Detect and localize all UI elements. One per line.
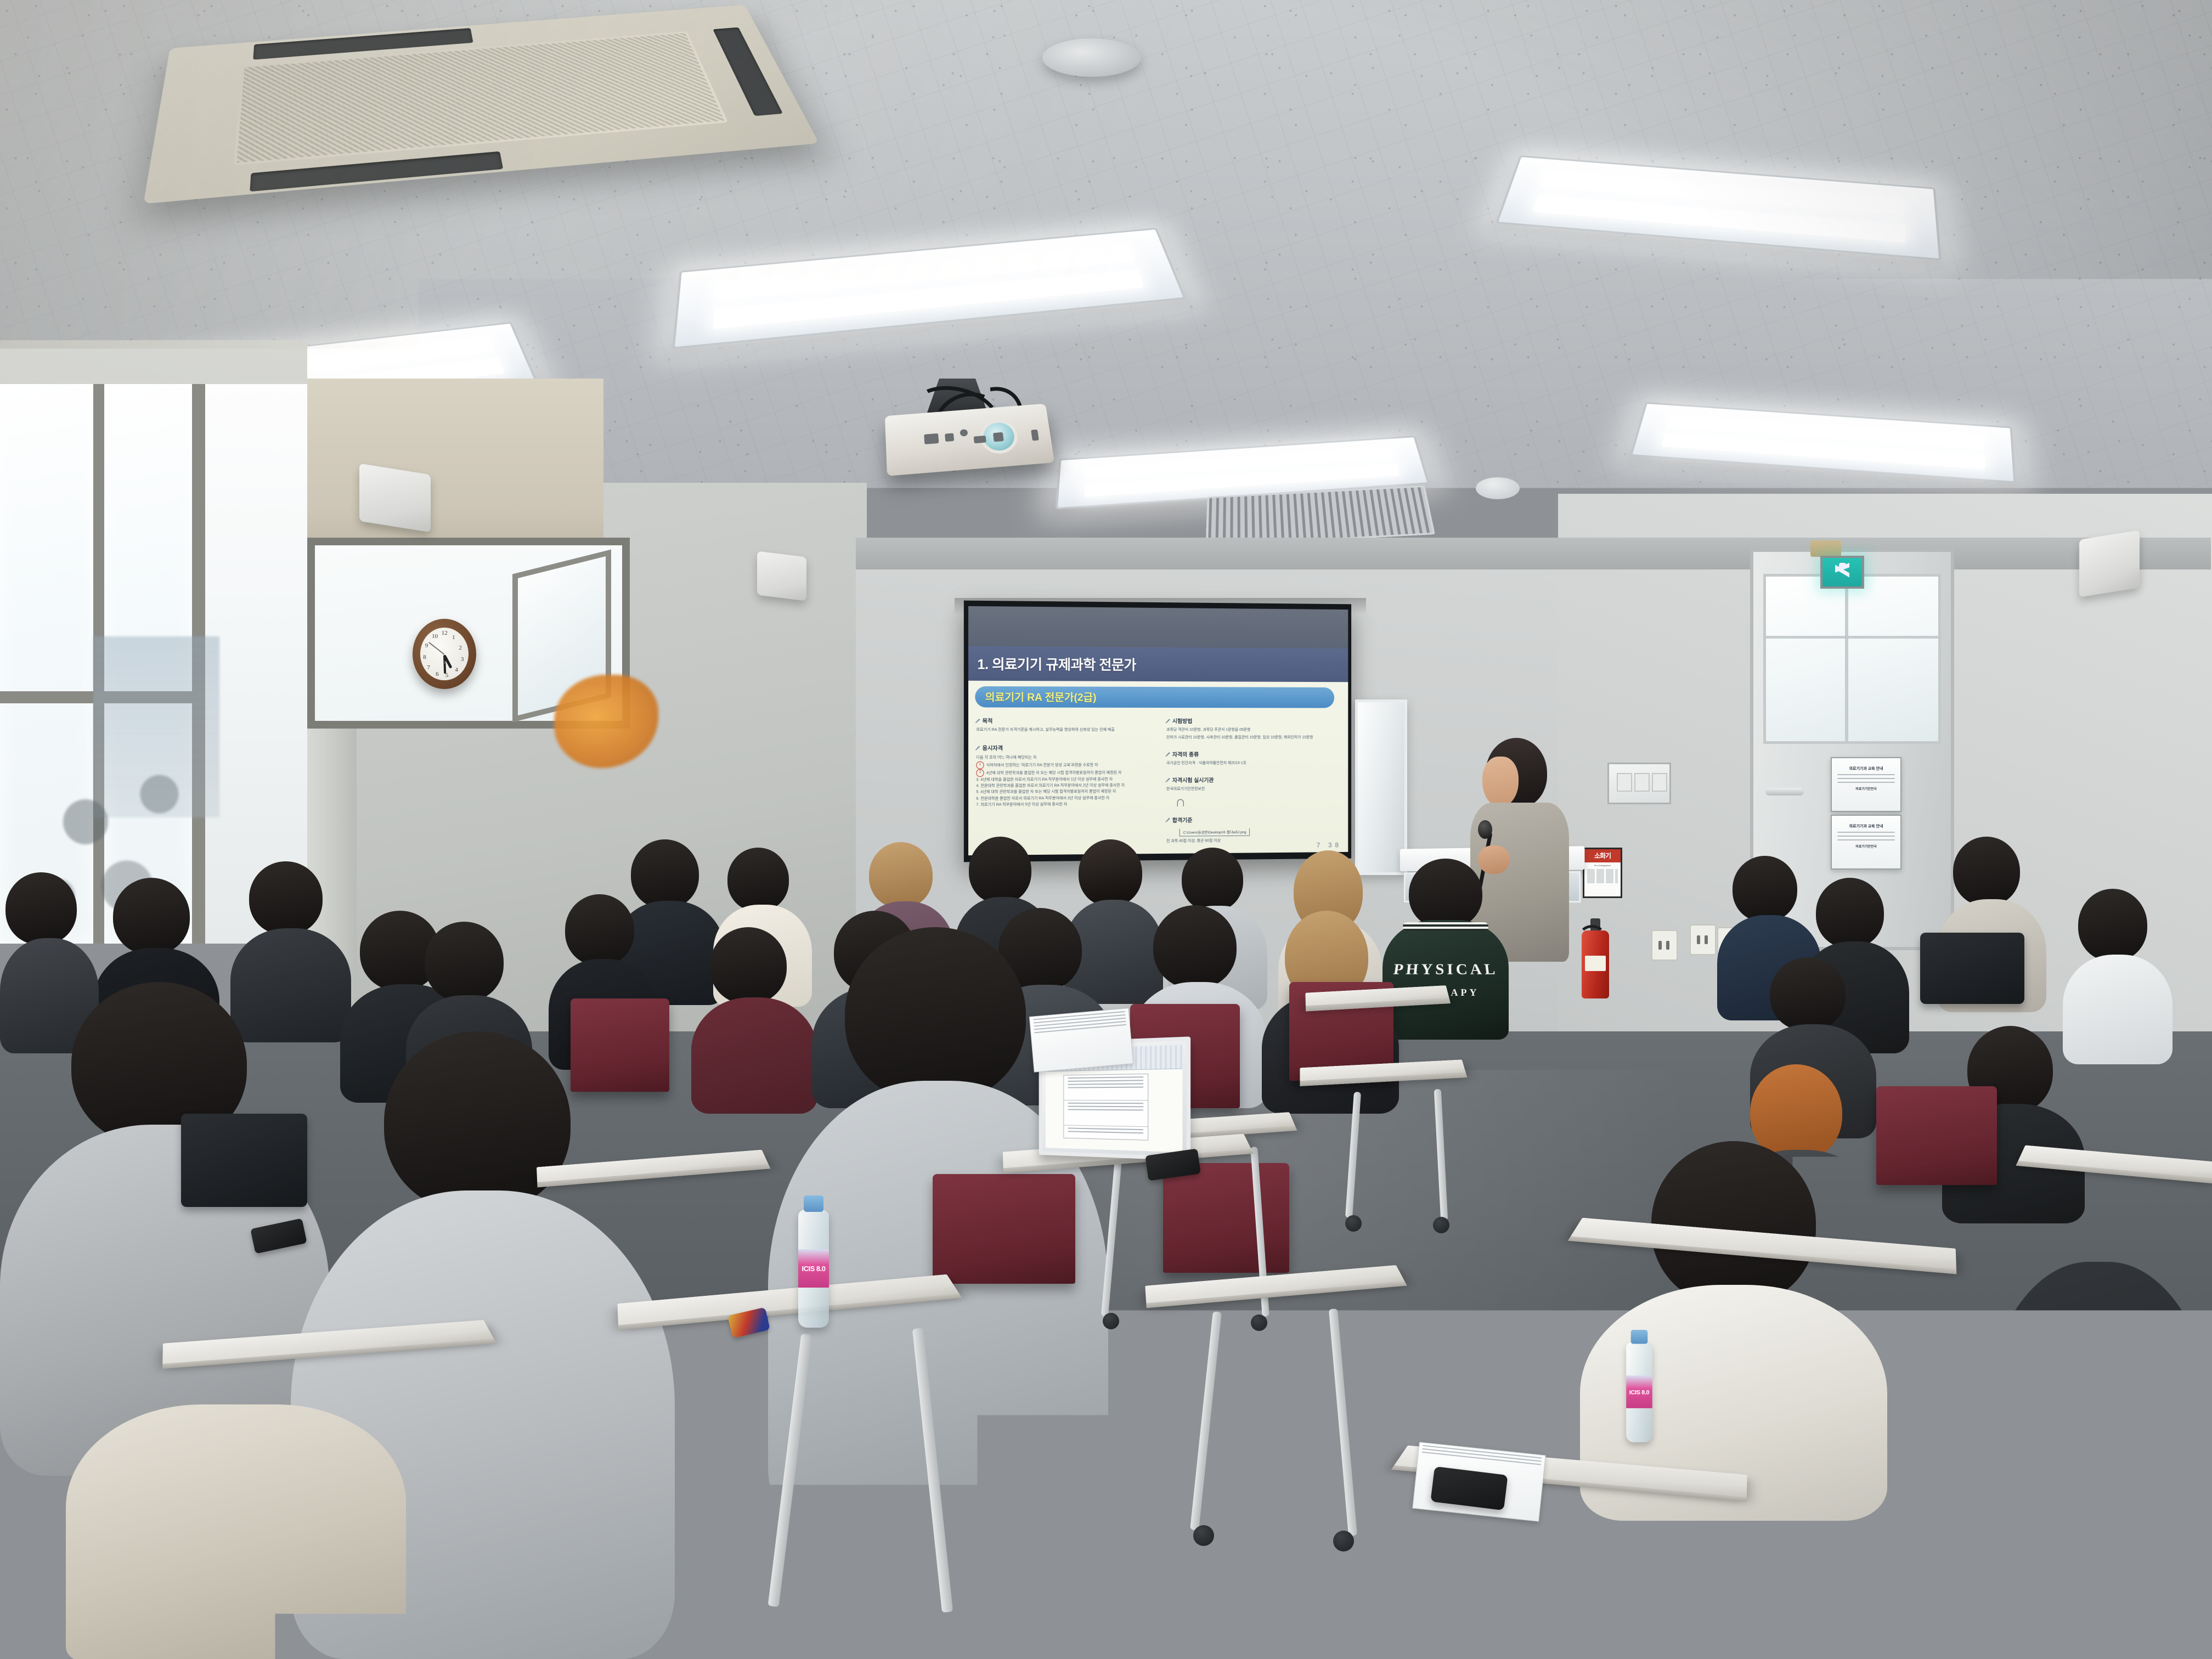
- circled-marker: 2: [976, 769, 984, 776]
- presentation-slide: 1. 의료기기 규제과학 전문가 의료기기 RA 전문가(2급) 목적 의료기기…: [968, 606, 1348, 855]
- notice-title: 의료기기과 교육 안내: [1832, 766, 1900, 771]
- desk-caster: [1103, 1313, 1119, 1329]
- slide-section-heading: 시험방법: [1165, 716, 1342, 725]
- audience-member-foreground: [1580, 1141, 1887, 1520]
- list-item-text: 4년제 대학 관련학과를 졸업한 자 또는 해당 시험 합격자발표일까지 졸업이…: [986, 771, 1122, 775]
- slide-section-body: 과목당 객관식 10문항, 과목당 주관식 1문항을 05문항: [1166, 727, 1342, 733]
- slide-section-title: 자격의 종류: [1172, 750, 1199, 758]
- ceiling-sensor-icon: [1476, 477, 1520, 499]
- wall-outlet: [1651, 930, 1678, 961]
- notice-footer: 의료기기안전국: [1832, 844, 1900, 849]
- list-item: 1 식약처에서 인정하는 '의료기기 RA 전문가 양성 교육'과정을 수료한 …: [976, 761, 1156, 769]
- desk-caster: [1433, 1217, 1449, 1233]
- list-item-text: 식약처에서 인정하는 '의료기기 RA 전문가 양성 교육'과정을 수료한 자: [986, 763, 1098, 768]
- varsity-jacket-student: PHYSICAL THERAPY: [1383, 859, 1509, 1040]
- page-current: 7: [1317, 842, 1323, 849]
- slide-eligibility-list: 다음 각 호의 어느 하나에 해당되는 자 1 식약처에서 인정하는 '의료기기…: [976, 754, 1156, 808]
- printed-handout[interactable]: [1029, 1008, 1133, 1072]
- slide-section-heading: 목적: [975, 716, 1156, 725]
- desk-caster: [1251, 1314, 1267, 1331]
- list-item-text: 의료기기 RA 직무분야에서 5년 이상 실무에 종사한 자: [980, 803, 1067, 807]
- slide-top-strip: [968, 606, 1348, 648]
- slide-section-title: 시험방법: [1172, 716, 1192, 725]
- clock-numeral: 4: [455, 667, 458, 673]
- projection-screen: 1. 의료기기 규제과학 전문가 의료기기 RA 전문가(2급) 목적 의료기기…: [964, 601, 1351, 862]
- chair[interactable]: [933, 1174, 1075, 1284]
- fire-extinguisher-sign: 소화기 Fire Extinguisher: [1583, 848, 1622, 898]
- bottle-cap: [1631, 1330, 1648, 1344]
- slide-title-bar: 1. 의료기기 규제과학 전문가: [968, 646, 1348, 682]
- pen-icon: [1165, 777, 1170, 782]
- wall-clock: 12 1 2 3 4 5 6 7 8 9 10 ◎: [413, 619, 476, 689]
- chair[interactable]: [1163, 1163, 1289, 1273]
- slide-section-title: 응시자격: [983, 743, 1003, 752]
- list-intro: 다음 각 호의 어느 하나에 해당되는 자: [976, 754, 1156, 761]
- pen-icon: [975, 718, 980, 723]
- clock-numeral: 3: [461, 656, 464, 663]
- document-table: [1063, 1074, 1148, 1141]
- slide-section-heading: 응시자격: [975, 743, 1156, 752]
- list-item-text: 전문대학 관련학과를 졸업한 자로서 의료기기 RA 직무분야에서 2년 이상 …: [980, 783, 1125, 788]
- wall-notice: 의료기기과 교육 안내 의료기기안전국: [1831, 757, 1901, 812]
- microphone-icon: [1478, 820, 1492, 839]
- slide-section-title: 자격시험 실시기관: [1172, 776, 1214, 784]
- clock-numeral: 8: [423, 654, 426, 661]
- wall-speaker-icon: [757, 551, 806, 601]
- pen-icon: [1165, 817, 1170, 822]
- list-item-text: 4년제 대학을 졸업한 자로서 의료기기 RA 직무분야에서 1년 이상 실무에…: [980, 777, 1113, 782]
- clock-second-hand: [428, 642, 445, 655]
- slide-section-heading: 합격기준: [1165, 815, 1342, 824]
- bottle-label-text: ICIS 8.0: [802, 1265, 826, 1273]
- slide-section-title: 목적: [983, 716, 993, 725]
- wall-switch-panel[interactable]: [1607, 763, 1671, 804]
- clock-numeral: 9: [425, 642, 428, 649]
- slide-section-body: 의료기기 RA 전문가 자격기준을 제시하고, 실무능력을 향상하여 신뢰성 있…: [976, 727, 1156, 733]
- file-path-annotation: C:\Users\등성한\Desktop\수 를다w5J.png: [1180, 828, 1250, 837]
- desk-caster: [1193, 1525, 1214, 1546]
- clock-numeral: 12: [442, 630, 448, 636]
- running-man-icon: [1835, 563, 1849, 582]
- slide-title: 1. 의료기기 규제과학 전문가: [968, 653, 1136, 674]
- wall-speaker-icon: [359, 464, 431, 533]
- lecture-hall-photo: 12 1 2 3 4 5 6 7 8 9 10 ◎ 1. 의료기기 규제과학 전…: [0, 0, 2212, 1659]
- slide-left-column: 목적 의료기기 RA 전문가 자격기준을 제시하고, 실무능력을 향상하여 신뢰…: [975, 716, 1156, 853]
- chair[interactable]: [571, 998, 669, 1092]
- list-item: 2 4년제 대학 관련학과를 졸업한 자 또는 해당 시험 합격자발표일까지 졸…: [976, 769, 1156, 777]
- notice-footer: 의료기기안전국: [1832, 786, 1900, 791]
- window-roller-blind[interactable]: [307, 379, 603, 548]
- audience-member-foreground: [66, 1404, 406, 1659]
- list-item-text: 4년제 대학 관련학과를 졸업한 자 또는 해당 시험 합격자발표일까지 졸업이…: [980, 790, 1116, 794]
- desk-caster: [1333, 1531, 1354, 1551]
- door-glass-panel: [1763, 574, 1941, 744]
- mouse-cursor-icon: [1177, 799, 1184, 806]
- clock-brand-mark: ◎: [443, 661, 445, 664]
- varsity-jacket: PHYSICAL THERAPY: [1383, 920, 1509, 1040]
- slide-subtitle-pill: 의료기기 RA 전문가(2급): [975, 686, 1334, 708]
- clock-numeral: 1: [452, 634, 455, 641]
- backpack: [1613, 1031, 1728, 1108]
- jacket-text-top: PHYSICAL: [1381, 961, 1510, 979]
- slide-section-body: 인허가 시료관리 10문항, 사후관리 10문항, 품질관리 10문항, 임상 …: [1166, 735, 1342, 741]
- clock-numeral: 2: [459, 645, 462, 651]
- slide-section-body: 한국의료기기안전정보원: [1166, 786, 1342, 793]
- bottle-label: ICIS 8.0: [1626, 1375, 1652, 1408]
- bottle-cap: [804, 1195, 823, 1212]
- pen-icon: [975, 746, 980, 751]
- student-hair: [1409, 859, 1482, 929]
- audience-member-foreground: [1980, 1262, 2212, 1657]
- wall-notice: 의료기기과 교육 안내 의료기기안전국: [1831, 815, 1901, 870]
- desk-caster: [1345, 1215, 1362, 1232]
- slide-page-number: 7 38: [1317, 841, 1342, 849]
- jacket-collar: [1403, 922, 1488, 931]
- ceiling-speaker-icon: [1042, 38, 1141, 77]
- wall-beam: [856, 538, 2211, 569]
- circled-marker: 1: [976, 761, 984, 769]
- clock-numeral: 6: [436, 671, 439, 678]
- bottle-label-text: ICIS 8.0: [1629, 1389, 1650, 1396]
- pen-icon: [1165, 752, 1170, 757]
- slide-section-body: 전 과목 40점 이상, 평균 60점 이상: [1166, 837, 1342, 844]
- page-total: 38: [1328, 841, 1342, 849]
- pen-icon: [1165, 718, 1170, 723]
- wall-outlet: [1690, 924, 1716, 955]
- exit-sign-icon: [1820, 556, 1864, 589]
- door-handle[interactable]: [1765, 788, 1804, 795]
- fire-extinguisher-icon: [1587, 869, 1618, 883]
- fire-sign-subtitle: Fire Extinguisher: [1584, 864, 1621, 867]
- fire-sign-title: 소화기: [1584, 849, 1621, 862]
- notice-title: 의료기기과 교육 안내: [1832, 823, 1900, 829]
- clock-numeral: 10: [432, 633, 438, 640]
- wall-speaker-icon: [2079, 530, 2140, 597]
- clock-face: 12 1 2 3 4 5 6 7 8 9 10 ◎: [420, 628, 469, 680]
- slide-body: 의료기기 RA 전문가(2급) 목적 의료기기 RA 전문가 자격기준을 제시하…: [968, 681, 1348, 855]
- slide-section-body: 국가공인 민간자격 · 식품의약품안전처 제2019-1호: [1166, 760, 1342, 767]
- clock-numeral: 7: [427, 664, 430, 671]
- list-item: 7. 의료기기 RA 직무분야에서 5년 이상 실무에 종사한 자: [976, 801, 1156, 808]
- water-bottle[interactable]: ICIS 8.0: [1626, 1342, 1652, 1442]
- slide-section-title: 합격기준: [1172, 815, 1192, 823]
- slide-right-column: 시험방법 과목당 객관식 10문항, 과목당 주관식 1문항을 05문항 인허가…: [1165, 716, 1342, 851]
- slide-section-heading: 자격의 종류: [1165, 750, 1342, 758]
- bottle-label: ICIS 8.0: [798, 1249, 829, 1288]
- list-item-text: 전문대학을 졸업한 자로서 의료기기 RA 직무분야에서 3년 이상 실무에 종…: [980, 796, 1109, 800]
- chair[interactable]: [1876, 1086, 1997, 1185]
- backpack: [181, 1114, 307, 1207]
- slide-section-heading: 자격시험 실시기관: [1165, 775, 1342, 784]
- presenter-face: [1482, 757, 1519, 807]
- backpack: [1920, 933, 2024, 1004]
- water-bottle[interactable]: ICIS 8.0: [798, 1210, 829, 1328]
- emergency-light-fixture: [1810, 540, 1841, 557]
